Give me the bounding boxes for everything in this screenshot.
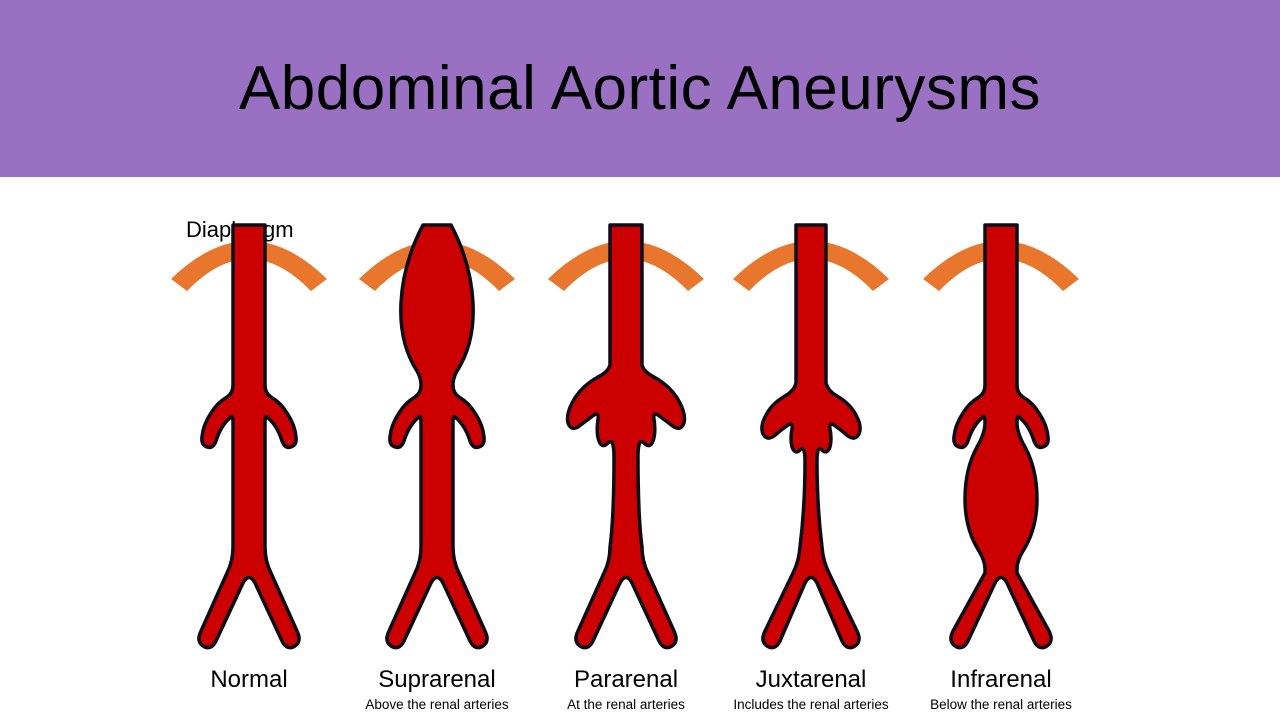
aorta-illustration-normal [155, 217, 343, 662]
diagram-area: Diaphragm Normal [0, 177, 1280, 720]
caption-juxtarenal: Juxtarenal Includes the renal arteries [717, 666, 905, 714]
aorta-figure-row: Normal Suprarenal Above the renal arteri… [155, 177, 1095, 720]
caption-title: Normal [155, 666, 343, 694]
aorta-illustration-suprarenal [343, 217, 531, 662]
caption-subtitle: Above the renal arteries [343, 696, 531, 714]
aorta-vessel-shape [951, 225, 1051, 648]
aorta-vessel-shape [568, 225, 685, 648]
aorta-figure-normal: Normal [155, 177, 343, 720]
aorta-figure-juxtarenal: Juxtarenal Includes the renal arteries [717, 177, 905, 720]
aorta-vessel-shape [762, 225, 860, 648]
title-banner: Abdominal Aortic Aneurysms [0, 0, 1280, 177]
caption-infrarenal: Infrarenal Below the renal arteries [907, 666, 1095, 714]
caption-title: Suprarenal [343, 666, 531, 694]
aorta-figure-suprarenal: Suprarenal Above the renal arteries [343, 177, 531, 720]
caption-normal: Normal [155, 666, 343, 696]
caption-title: Juxtarenal [717, 666, 905, 694]
aorta-vessel-shape [387, 225, 487, 648]
aorta-figure-infrarenal: Infrarenal Below the renal arteries [907, 177, 1095, 720]
caption-title: Pararenal [532, 666, 720, 694]
caption-subtitle: Below the renal arteries [907, 696, 1095, 714]
caption-pararenal: Pararenal At the renal arteries [532, 666, 720, 714]
page-title: Abdominal Aortic Aneurysms [239, 58, 1041, 120]
aorta-vessel-shape [199, 225, 299, 648]
caption-title: Infrarenal [907, 666, 1095, 694]
caption-suprarenal: Suprarenal Above the renal arteries [343, 666, 531, 714]
aorta-illustration-infrarenal [907, 217, 1095, 662]
aorta-illustration-juxtarenal [717, 217, 905, 662]
caption-subtitle: Includes the renal arteries [717, 696, 905, 714]
aorta-figure-pararenal: Pararenal At the renal arteries [532, 177, 720, 720]
aorta-illustration-pararenal [532, 217, 720, 662]
caption-subtitle: At the renal arteries [532, 696, 720, 714]
